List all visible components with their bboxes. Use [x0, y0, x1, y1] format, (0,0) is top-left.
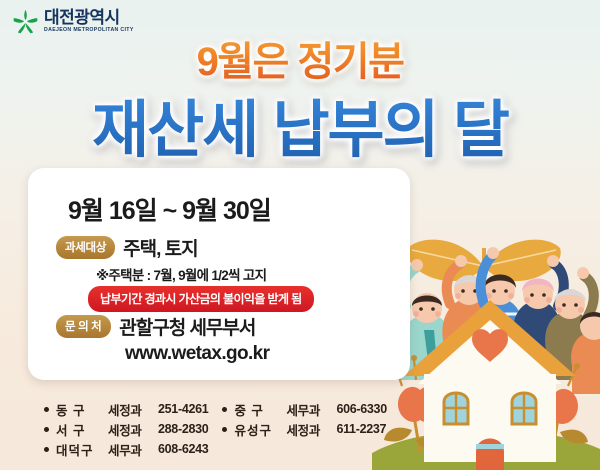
wetax-url[interactable]: www.wetax.go.kr: [125, 343, 269, 365]
district-office-list: 동 구 세정과 251-4261 중 구 세무과 606-6330 서 구 세정…: [44, 399, 464, 459]
office-dept: 세무과: [286, 400, 336, 419]
late-payment-warning: 납부기간 경과시 가산금의 불이익을 받게 됨: [88, 286, 314, 312]
inquiry-row: 문의처 관할구청 세무부서: [56, 313, 255, 340]
office-tel: 608-6243: [158, 442, 208, 456]
house-window-right: [512, 392, 536, 424]
city-name-ko: 대전광역시: [44, 9, 134, 26]
office-tel: 288-2830: [158, 422, 208, 436]
inquiry-value: 관할구청 세무부서: [119, 313, 255, 340]
office-dept: 세정과: [286, 420, 336, 439]
office-entry: 동 구 세정과 251-4261: [44, 400, 208, 419]
bullet-icon: [222, 427, 227, 432]
taxable-row: 과세대상 주택, 토지: [56, 234, 198, 261]
office-entry: 서 구 세정과 288-2830: [44, 420, 208, 439]
office-entry: 유성구 세정과 611-2237: [222, 420, 386, 439]
bullet-icon: [44, 407, 49, 412]
office-entry: 중 구 세무과 606-6330: [222, 400, 386, 419]
taxable-note: ※주택분 : 7월, 9월에 1/2씩 고지: [96, 264, 266, 284]
office-tel: 251-4261: [158, 402, 208, 416]
bullet-icon: [44, 427, 49, 432]
office-name: 대덕구: [56, 440, 108, 459]
bullet-icon: [222, 407, 227, 412]
poster-canvas: 대전광역시 DAEJEON METROPOLITAN CITY 9월은 정기분 …: [0, 0, 600, 470]
headline-line-2: 재산세 납부의 달: [0, 79, 600, 169]
office-tel: 611-2237: [336, 422, 386, 436]
office-dept: 세무과: [108, 440, 158, 459]
inquiry-badge: 문의처: [56, 315, 111, 338]
taxable-badge: 과세대상: [56, 236, 115, 259]
info-card: 9월 16일 ~ 9월 30일 과세대상 주택, 토지 ※주택분 : 7월, 9…: [28, 168, 410, 380]
bullet-icon: [44, 447, 49, 452]
office-line: 서 구 세정과 288-2830 유성구 세정과 611-2237: [44, 419, 464, 439]
office-name: 유성구: [234, 420, 286, 439]
office-line: 대덕구 세무과 608-6243: [44, 439, 464, 459]
office-dept: 세정과: [108, 400, 158, 419]
office-name: 동 구: [56, 400, 108, 419]
office-dept: 세정과: [108, 420, 158, 439]
office-name: 서 구: [56, 420, 108, 439]
office-tel: 606-6330: [336, 402, 386, 416]
office-entry: 대덕구 세무과 608-6243: [44, 440, 208, 459]
taxable-value: 주택, 토지: [123, 234, 197, 261]
payment-period: 9월 16일 ~ 9월 30일: [68, 191, 271, 227]
office-name: 중 구: [234, 400, 286, 419]
office-line: 동 구 세정과 251-4261 중 구 세무과 606-6330: [44, 399, 464, 419]
